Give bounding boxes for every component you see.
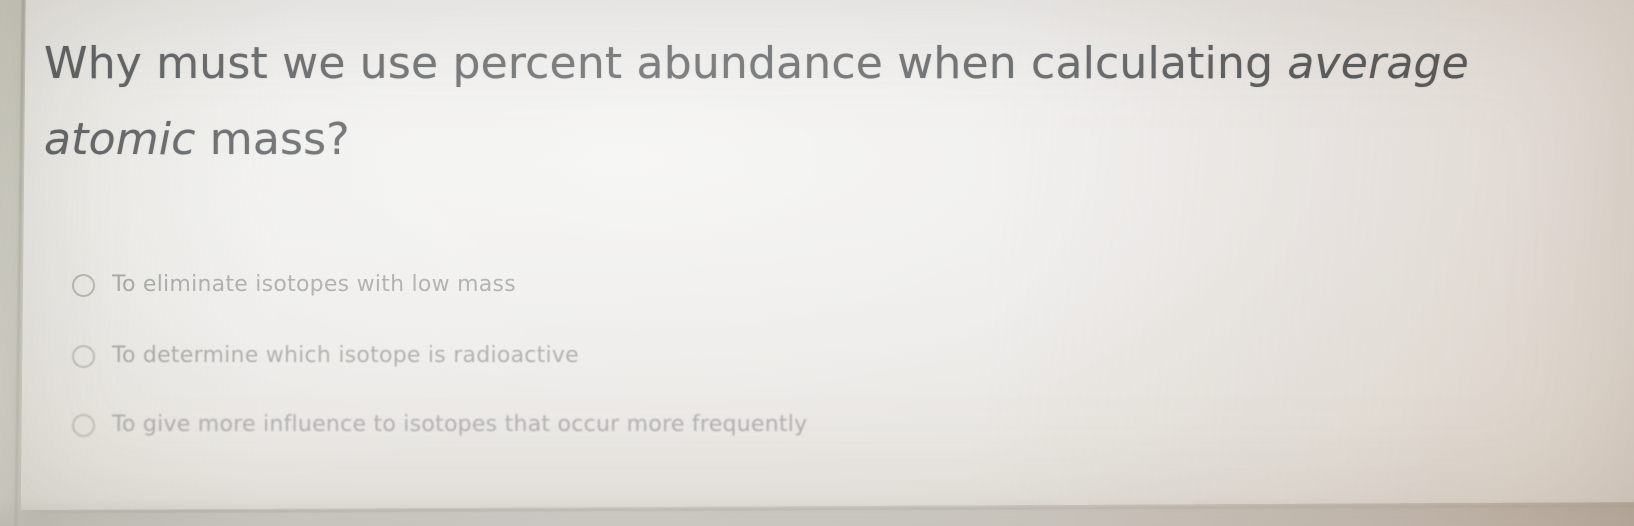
answer-option-1[interactable]: To eliminate isotopes with low mass [72, 272, 1272, 298]
radio-unchecked-icon[interactable] [72, 345, 95, 368]
radio-unchecked-icon[interactable] [72, 414, 95, 437]
bottom-shadow [0, 498, 1634, 526]
answer-option-2[interactable]: To determine which isotope is radioactiv… [72, 343, 1272, 369]
question-content: Why must we use percent abundance when c… [0, 0, 1634, 526]
answer-option-label: To determine which isotope is radioactiv… [112, 343, 579, 369]
answer-options-list: To eliminate isotopes with low mass To d… [72, 272, 1272, 482]
answer-option-label: To eliminate isotopes with low mass [112, 272, 516, 298]
radio-unchecked-icon[interactable] [72, 274, 95, 297]
question-text: Why must we use percent abundance when c… [44, 26, 1544, 178]
quiz-question-screenshot: Why must we use percent abundance when c… [0, 0, 1634, 526]
question-text-part-1: Why must we use percent abundance when c… [44, 38, 1287, 89]
answer-option-label: To give more influence to isotopes that … [112, 412, 807, 438]
answer-option-3[interactable]: To give more influence to isotopes that … [72, 412, 1272, 438]
question-text-part-2: mass? [196, 114, 350, 165]
